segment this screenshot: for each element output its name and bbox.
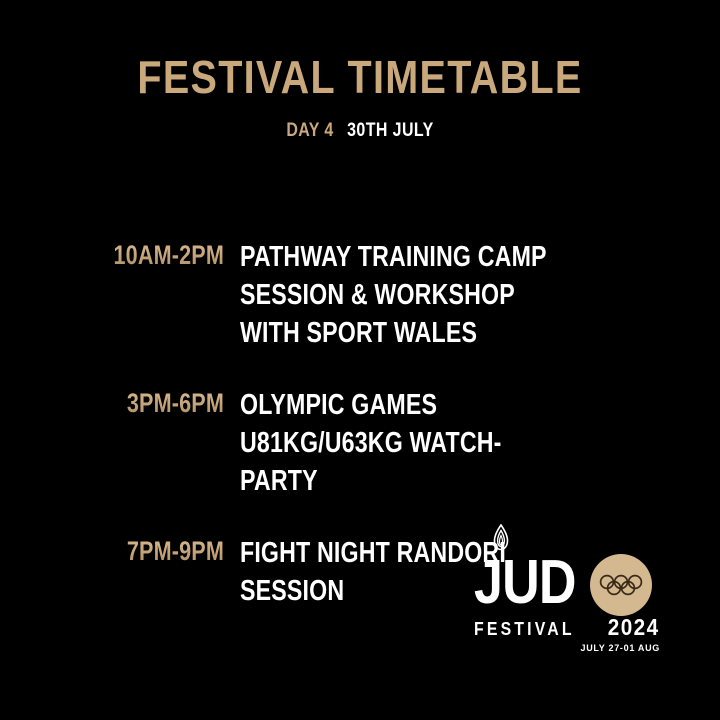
logo-wordmark-group: JUD (474, 524, 666, 616)
logo-subtext-group: FESTIVAL 2024 JULY 27-01 AUG (474, 616, 666, 654)
schedule-row: 10AM-2PM PATHWAY TRAINING CAMP SESSION &… (0, 238, 720, 352)
logo-o-circle (590, 554, 652, 616)
logo-festival-line: FESTIVAL 2024 (474, 616, 660, 640)
olympic-rings-icon (598, 574, 644, 596)
schedule-time: 10AM-2PM (45, 238, 224, 272)
day-label: DAY 4 (286, 120, 333, 141)
schedule-time: 3PM-6PM (45, 386, 224, 420)
poster-header: FESTIVAL TIMETABLE DAY 430TH JULY (0, 52, 720, 142)
logo-festival-word: FESTIVAL (474, 618, 575, 640)
schedule-time: 7PM-9PM (45, 534, 224, 568)
judo-festival-logo: JUD FESTIVAL 2024 JULY 27-01 AUG (474, 524, 666, 652)
schedule-row: 3PM-6PM OLYMPIC GAMES U81KG/U63KG WATCH-… (0, 386, 720, 500)
schedule-event: PATHWAY TRAINING CAMP SESSION & WORKSHOP… (224, 238, 621, 352)
poster-subtitle: DAY 430TH JULY (58, 120, 663, 142)
logo-dates: JULY 27-01 AUG (474, 643, 660, 654)
schedule-event: OLYMPIC GAMES U81KG/U63KG WATCH-PARTY (224, 386, 621, 500)
page-title: FESTIVAL TIMETABLE (50, 52, 669, 102)
logo-wordmark: JUD (474, 552, 576, 614)
festival-timetable-poster: FESTIVAL TIMETABLE DAY 430TH JULY 10AM-2… (0, 0, 720, 720)
logo-year: 2024 (608, 616, 660, 638)
date-label: 30TH JULY (347, 120, 434, 141)
